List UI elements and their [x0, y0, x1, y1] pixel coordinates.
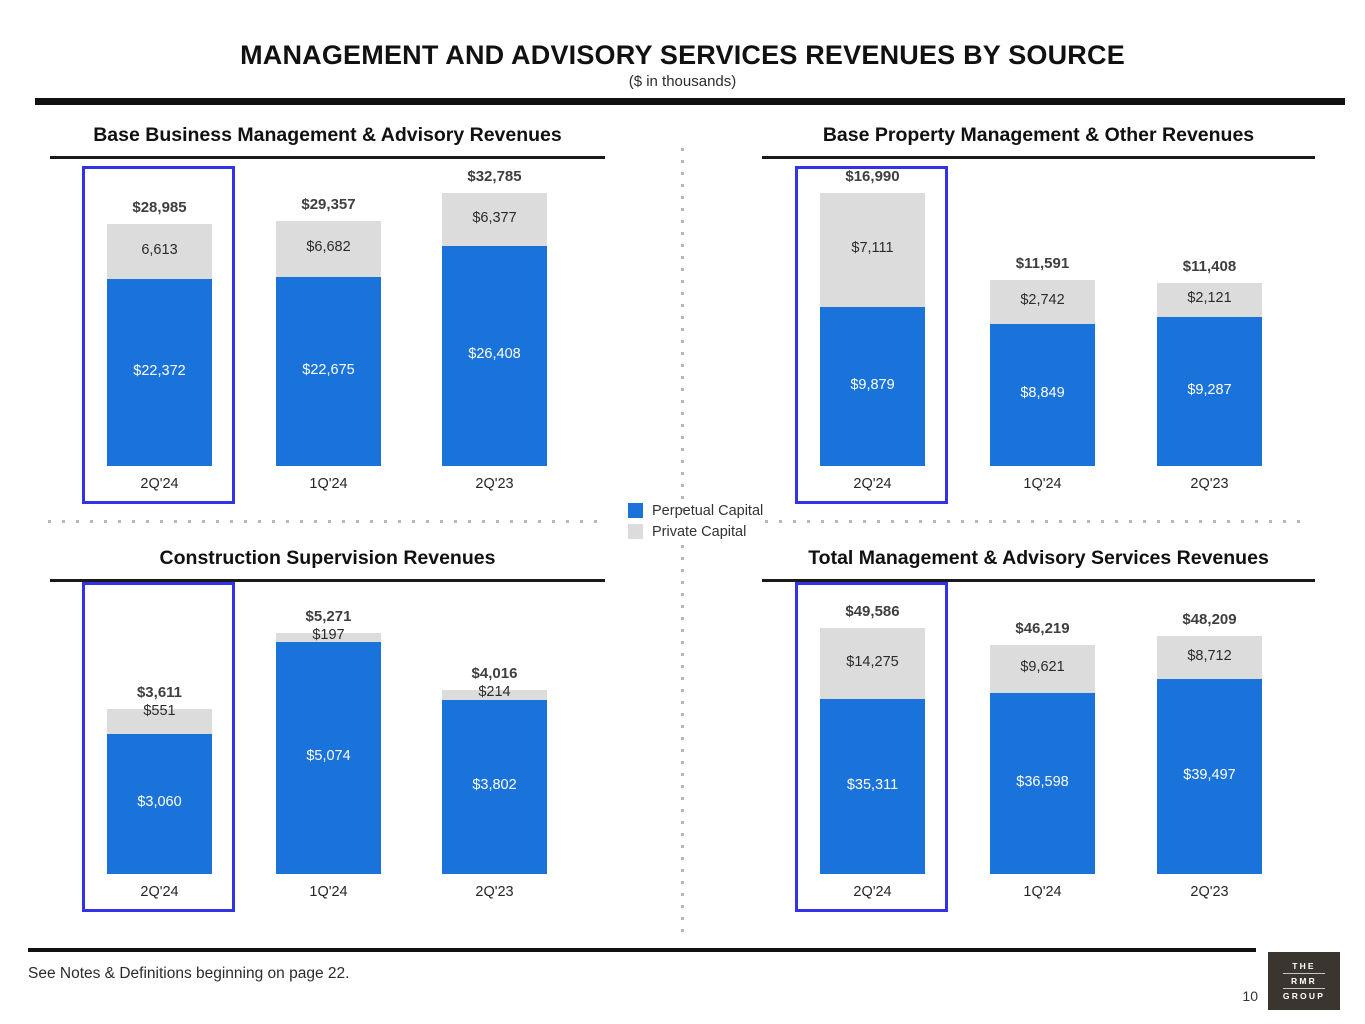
- chart-legend: Perpetual Capital Private Capital: [628, 500, 763, 542]
- chart-panel-construction-supervision: Construction Supervision Revenues: [50, 547, 605, 582]
- bar-value-label-perpetual-capital: $36,598: [990, 774, 1095, 790]
- header-rule: [35, 98, 1345, 105]
- bar-segment-perpetual-capital[interactable]: $9,287: [1157, 317, 1262, 466]
- bar-value-label-perpetual-capital: $8,849: [990, 385, 1095, 401]
- bar-value-label-private-capital: $2,121: [1157, 290, 1262, 306]
- bar-group[interactable]: $8,849$2,742$11,5911Q'24: [990, 170, 1095, 500]
- legend-label-perpetual-capital: Perpetual Capital: [652, 503, 763, 519]
- bar-value-label-private-capital: $6,377: [442, 210, 547, 226]
- chart-plot-total-management-advisory: $35,311$14,275$49,5862Q'24$36,598$9,621$…: [772, 608, 1307, 908]
- bar-segment-perpetual-capital[interactable]: $22,675: [276, 277, 381, 466]
- chart-plot-base-property-management-other: $9,879$7,111$16,9902Q'24$8,849$2,742$11,…: [772, 170, 1307, 500]
- bar-group[interactable]: $5,074$197$5,2711Q'24: [276, 608, 381, 908]
- bar-value-label-perpetual-capital: $22,675: [276, 362, 381, 378]
- footer-rule: [28, 948, 1256, 952]
- bar-total-label: $29,357: [246, 196, 411, 213]
- bar-group[interactable]: $35,311$14,275$49,5862Q'24: [820, 608, 925, 908]
- bar-group[interactable]: $36,598$9,621$46,2191Q'24: [990, 608, 1095, 908]
- divider-vertical-top: [681, 148, 684, 518]
- bar-group[interactable]: $26,408$6,377$32,7852Q'23: [442, 170, 547, 500]
- bar-value-label-private-capital: $14,275: [820, 654, 925, 670]
- bar-value-label-private-capital: $551: [107, 703, 212, 719]
- bar-total-label: $32,785: [412, 168, 577, 185]
- legend-swatch-perpetual-capital: [628, 503, 643, 518]
- logo-line-group: GROUP: [1283, 990, 1325, 1002]
- bar-category-label: 1Q'24: [246, 884, 411, 900]
- bar-category-label: 2Q'24: [790, 884, 955, 900]
- bar-group[interactable]: $22,3726,613$28,9852Q'24: [107, 170, 212, 500]
- bar-segment-private-capital[interactable]: 6,613: [107, 224, 212, 279]
- bar-group[interactable]: $22,675$6,682$29,3571Q'24: [276, 170, 381, 500]
- bar-segment-perpetual-capital[interactable]: $35,311: [820, 699, 925, 874]
- page-title: MANAGEMENT AND ADVISORY SERVICES REVENUE…: [0, 40, 1365, 71]
- bar-value-label-perpetual-capital: $3,060: [107, 794, 212, 810]
- footnote: See Notes & Definitions beginning on pag…: [28, 965, 349, 983]
- legend-item-private-capital: Private Capital: [628, 521, 763, 542]
- logo-line-the: THE: [1292, 960, 1316, 972]
- bar-category-label: 2Q'24: [790, 476, 955, 492]
- bar-total-label: $4,016: [412, 665, 577, 682]
- chart-panel-base-business-management-advisory: Base Business Management & Advisory Reve…: [50, 124, 605, 159]
- bar-category-label: 2Q'23: [412, 476, 577, 492]
- divider-vertical-bottom: [681, 545, 684, 935]
- bar-segment-private-capital[interactable]: $2,742: [990, 280, 1095, 324]
- bar-category-label: 2Q'24: [77, 884, 242, 900]
- bar-total-label: $16,990: [790, 168, 955, 185]
- bar-segment-perpetual-capital[interactable]: $39,497: [1157, 679, 1262, 874]
- logo-divider: [1283, 973, 1325, 974]
- bar-segment-private-capital[interactable]: $9,621: [990, 645, 1095, 693]
- bar-value-label-private-capital: 6,613: [107, 242, 212, 258]
- bar-value-label-perpetual-capital: $22,372: [107, 363, 212, 379]
- chart-title-rule: [50, 156, 605, 159]
- bar-segment-private-capital[interactable]: $8,712: [1157, 636, 1262, 679]
- bar-total-label: $48,209: [1127, 611, 1292, 628]
- bar-segment-private-capital[interactable]: $551: [107, 709, 212, 734]
- bar-total-label: $5,271: [246, 608, 411, 625]
- bar-value-label-perpetual-capital: $5,074: [276, 748, 381, 764]
- legend-label-private-capital: Private Capital: [652, 524, 746, 540]
- bar-category-label: 2Q'23: [1127, 884, 1292, 900]
- bar-group[interactable]: $9,287$2,121$11,4082Q'23: [1157, 170, 1262, 500]
- bar-segment-perpetual-capital[interactable]: $3,060: [107, 734, 212, 874]
- bar-segment-perpetual-capital[interactable]: $5,074: [276, 642, 381, 874]
- chart-plot-base-business-management-advisory: $22,3726,613$28,9852Q'24$22,675$6,682$29…: [60, 170, 600, 500]
- bar-value-label-private-capital: $197: [276, 627, 381, 643]
- slide: MANAGEMENT AND ADVISORY SERVICES REVENUE…: [0, 0, 1365, 1024]
- bar-segment-private-capital[interactable]: $7,111: [820, 193, 925, 307]
- bar-segment-perpetual-capital[interactable]: $9,879: [820, 307, 925, 466]
- bar-category-label: 2Q'23: [1127, 476, 1292, 492]
- bar-total-label: $28,985: [77, 199, 242, 216]
- bar-value-label-private-capital: $214: [442, 684, 547, 700]
- bar-group[interactable]: $3,060$551$3,6112Q'24: [107, 608, 212, 908]
- bar-segment-perpetual-capital[interactable]: $3,802: [442, 700, 547, 874]
- bar-category-label: 1Q'24: [246, 476, 411, 492]
- bar-value-label-perpetual-capital: $39,497: [1157, 767, 1262, 783]
- bar-segment-private-capital[interactable]: $6,377: [442, 193, 547, 246]
- bar-category-label: 2Q'24: [77, 476, 242, 492]
- bar-group[interactable]: $3,802$214$4,0162Q'23: [442, 608, 547, 908]
- bar-category-label: 2Q'23: [412, 884, 577, 900]
- bar-total-label: $46,219: [960, 620, 1125, 637]
- chart-title: Base Property Management & Other Revenue…: [762, 124, 1315, 147]
- logo-line-rmr: RMR: [1291, 975, 1317, 987]
- bar-segment-private-capital[interactable]: $14,275: [820, 628, 925, 699]
- bar-value-label-private-capital: $8,712: [1157, 648, 1262, 664]
- bar-group[interactable]: $9,879$7,111$16,9902Q'24: [820, 170, 925, 500]
- bar-category-label: 1Q'24: [960, 476, 1125, 492]
- bar-value-label-private-capital: $7,111: [820, 240, 925, 256]
- chart-panel-base-property-management-other: Base Property Management & Other Revenue…: [762, 124, 1315, 159]
- bar-value-label-perpetual-capital: $9,287: [1157, 382, 1262, 398]
- chart-panel-total-management-advisory: Total Management & Advisory Services Rev…: [762, 547, 1315, 582]
- bar-segment-private-capital[interactable]: $214: [442, 690, 547, 700]
- bar-total-label: $11,408: [1127, 258, 1292, 275]
- bar-segment-perpetual-capital[interactable]: $22,372: [107, 279, 212, 466]
- page-number: 10: [1228, 988, 1258, 1004]
- bar-value-label-private-capital: $6,682: [276, 239, 381, 255]
- bar-value-label-private-capital: $9,621: [990, 659, 1095, 675]
- bar-segment-private-capital[interactable]: $6,682: [276, 221, 381, 277]
- bar-segment-private-capital[interactable]: $197: [276, 633, 381, 642]
- chart-title: Construction Supervision Revenues: [50, 547, 605, 570]
- divider-horizontal-right: [765, 520, 1310, 523]
- bar-segment-perpetual-capital[interactable]: $8,849: [990, 324, 1095, 466]
- bar-segment-perpetual-capital[interactable]: $26,408: [442, 246, 547, 466]
- chart-title: Base Business Management & Advisory Reve…: [50, 124, 605, 147]
- legend-swatch-private-capital: [628, 524, 643, 539]
- bar-total-label: $49,586: [790, 603, 955, 620]
- page-subtitle: ($ in thousands): [0, 73, 1365, 90]
- bar-value-label-perpetual-capital: $9,879: [820, 377, 925, 393]
- bar-category-label: 1Q'24: [960, 884, 1125, 900]
- bar-value-label-perpetual-capital: $26,408: [442, 346, 547, 362]
- bar-total-label: $11,591: [960, 255, 1125, 272]
- chart-title-rule: [762, 156, 1315, 159]
- chart-title-rule: [762, 579, 1315, 582]
- bar-value-label-perpetual-capital: $35,311: [820, 777, 925, 793]
- chart-title: Total Management & Advisory Services Rev…: [762, 547, 1315, 570]
- logo-divider: [1283, 988, 1325, 989]
- bar-segment-perpetual-capital[interactable]: $36,598: [990, 693, 1095, 874]
- rmr-group-logo: THE RMR GROUP: [1268, 952, 1340, 1010]
- bar-value-label-private-capital: $2,742: [990, 292, 1095, 308]
- chart-plot-construction-supervision: $3,060$551$3,6112Q'24$5,074$197$5,2711Q'…: [60, 608, 600, 908]
- chart-title-rule: [50, 579, 605, 582]
- bar-group[interactable]: $39,497$8,712$48,2092Q'23: [1157, 608, 1262, 908]
- bar-total-label: $3,611: [77, 684, 242, 701]
- bar-segment-private-capital[interactable]: $2,121: [1157, 283, 1262, 317]
- legend-item-perpetual-capital: Perpetual Capital: [628, 500, 763, 521]
- bar-value-label-perpetual-capital: $3,802: [442, 777, 547, 793]
- divider-horizontal-left: [48, 520, 600, 523]
